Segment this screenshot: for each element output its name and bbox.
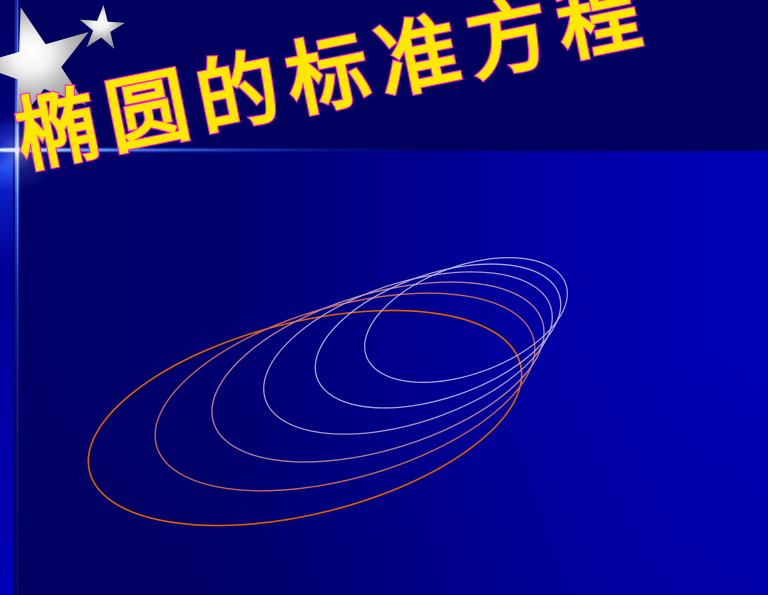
presentation-slide: 椭圆的标准方程 bbox=[0, 0, 768, 595]
horizontal-accent-core bbox=[0, 149, 400, 150]
small-star bbox=[78, 3, 126, 51]
background-bottom-shade bbox=[0, 151, 768, 595]
